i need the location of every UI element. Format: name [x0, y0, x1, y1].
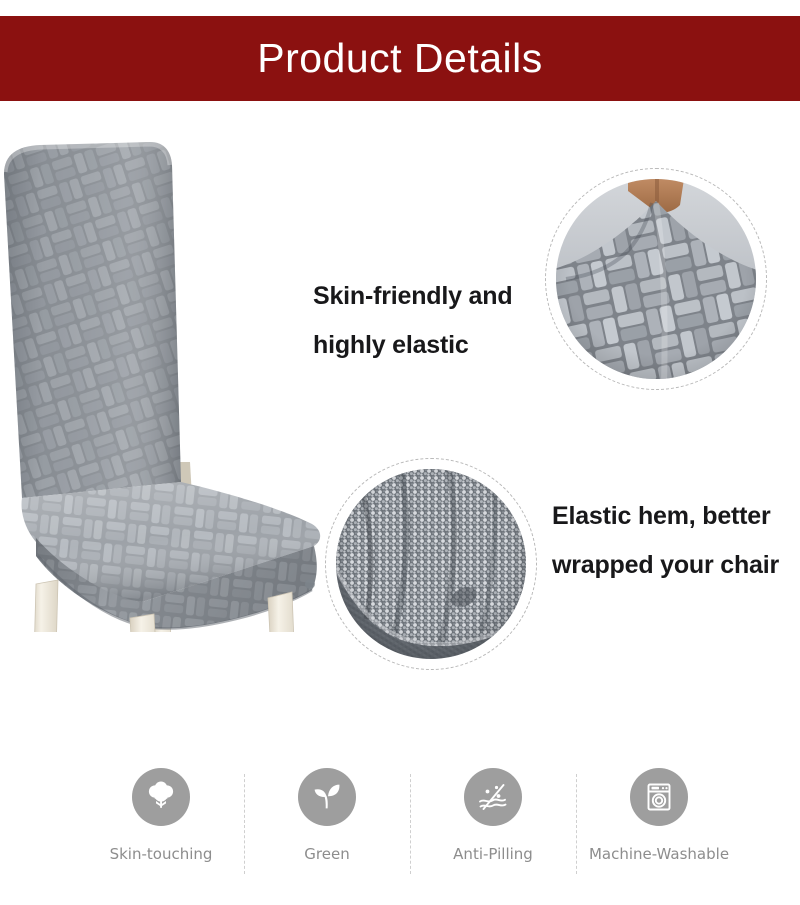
feature-label: Machine-Washable — [589, 845, 729, 863]
feature-skin-touching: Skin-touching — [78, 768, 244, 880]
page-title: Product Details — [257, 35, 543, 82]
callout-line-1: Skin-friendly and — [313, 272, 512, 321]
feature-label: Skin-touching — [110, 845, 213, 863]
elastic-hem-closeup — [336, 469, 526, 659]
washing-machine-icon — [630, 768, 688, 826]
fabric-weave-closeup — [556, 179, 756, 379]
feature-green: Green — [244, 768, 410, 880]
feature-label: Green — [304, 845, 349, 863]
product-details-banner: Product Details — [0, 16, 800, 101]
feature-anti-pilling: Anti-Pilling — [410, 768, 576, 880]
callout-skin-friendly: Skin-friendly and highly elastic — [313, 272, 512, 370]
inset-fabric-weave-photo — [545, 168, 767, 390]
chair-back — [4, 142, 181, 498]
feature-strip: Skin-touching Green — [78, 768, 742, 880]
callout-elastic-hem: Elastic hem, better wrapped your chair — [552, 492, 779, 590]
feature-label: Anti-Pilling — [453, 845, 533, 863]
callout-line-2: wrapped your chair — [552, 541, 779, 590]
inset-elastic-hem-photo — [325, 458, 537, 670]
callout-line-1: Elastic hem, better — [552, 492, 779, 541]
anti-pilling-icon — [464, 768, 522, 826]
chair-illustration — [0, 132, 340, 632]
callout-line-2: highly elastic — [313, 321, 512, 370]
cotton-boll-icon — [132, 768, 190, 826]
hero-chair-image — [0, 132, 340, 632]
feature-machine-washable: Machine-Washable — [576, 768, 742, 880]
sprout-leaf-icon — [298, 768, 356, 826]
